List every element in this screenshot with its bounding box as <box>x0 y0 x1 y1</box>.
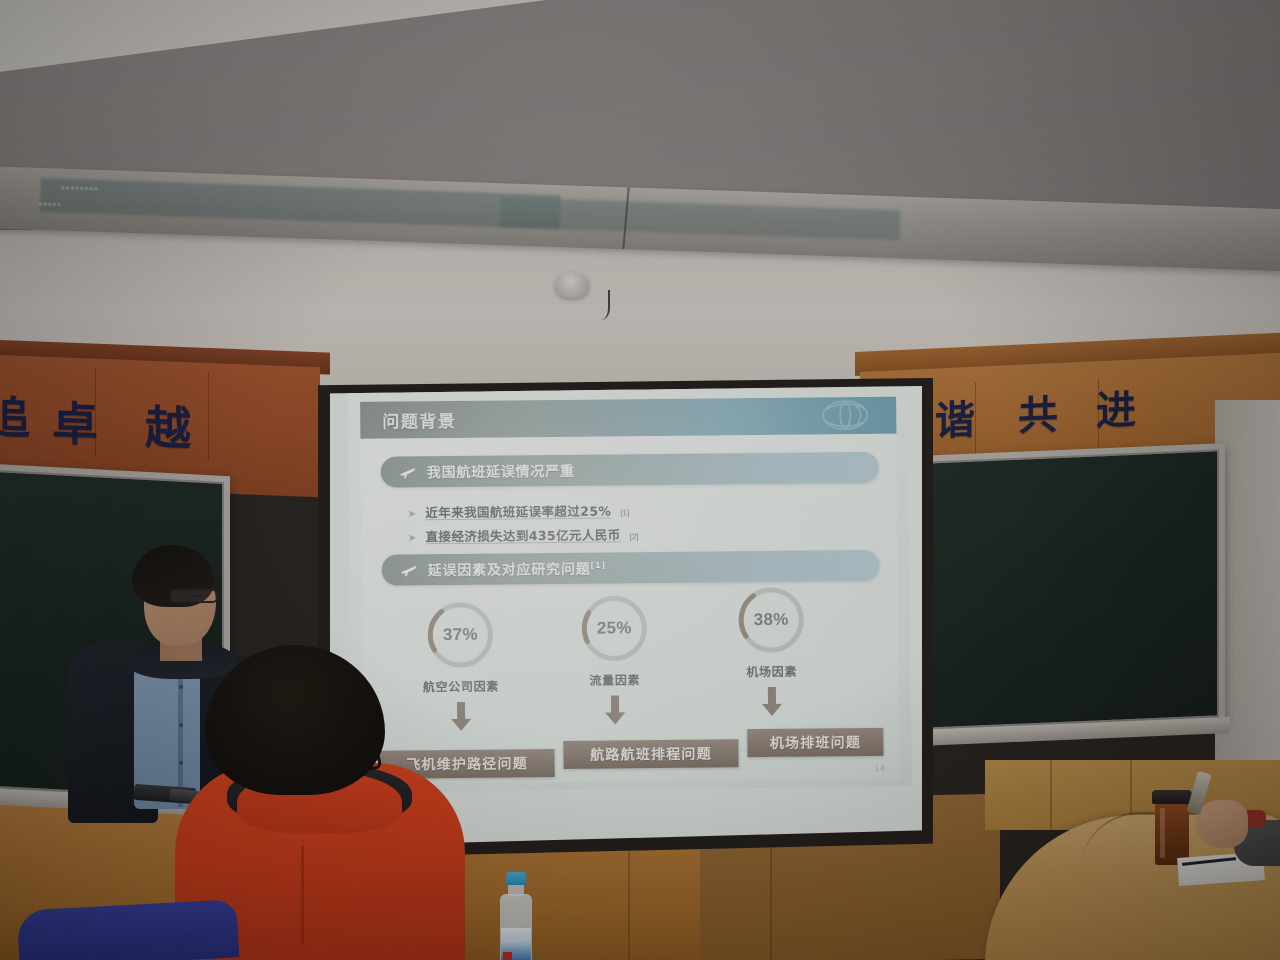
bullet-2-ref: [2] <box>630 532 639 541</box>
blue-chair <box>17 899 240 960</box>
water-bottle <box>498 872 534 960</box>
section-header-1: 我国航班延误情况严重 <box>381 452 879 488</box>
problem-box-2: 航路航班排程问题 <box>563 739 738 769</box>
bullet-arrow-icon: ➤ <box>407 509 416 520</box>
banner-char-left-2: 越 <box>145 391 191 459</box>
lecture-hall-photo: ●●●●●●●● ●●●●● 追 卓 越 和 谐 共 进 <box>0 0 1280 960</box>
audience-hair <box>205 645 385 795</box>
banner-char-left-1: 卓 <box>52 387 98 455</box>
banner-char-left-0: 追 <box>0 381 30 447</box>
blackboard-right <box>895 443 1225 737</box>
problem-box-3: 机场排班问题 <box>747 728 883 757</box>
down-arrow-icon <box>604 695 626 725</box>
bullet-2: ➤ 直接经济损失达到435亿元人民币 [2] <box>407 524 638 545</box>
section-2-heading-ref: [1] <box>590 560 605 569</box>
factor-caption-2: 流量因素 <box>589 671 640 688</box>
banner-char-right-1: 谐 <box>935 387 975 447</box>
problem-label-3: 机场排班问题 <box>770 732 861 753</box>
donut-chart-2: 25% <box>577 591 652 666</box>
bullet-1-ref: [1] <box>620 508 629 517</box>
hoodie-fold <box>301 845 304 945</box>
light-cord <box>588 290 610 320</box>
ceiling-dome-light <box>555 272 589 298</box>
problem-label-2: 航路航班排程问题 <box>590 744 712 765</box>
factor-group-3: 38% 机场因素 <box>734 583 809 718</box>
right-person-hand <box>1196 800 1248 848</box>
institution-watermark-logo <box>808 398 882 434</box>
audience-member-right <box>1186 772 1280 882</box>
bottle-label-mark <box>503 952 512 960</box>
section-2-heading-text: 延误因素及对应研究问题 <box>428 561 591 579</box>
airplane-icon <box>399 465 417 479</box>
bullet-arrow-icon: ➤ <box>407 533 416 544</box>
donut-percent-2: 25% <box>577 591 652 666</box>
bullet-1-text: 近年来我国航班延误率超过25% <box>425 500 611 521</box>
banner-char-right-2: 共 <box>1018 382 1058 442</box>
factor-group-2: 25% 流量因素 <box>577 591 652 726</box>
tea-jar-highlight <box>1160 808 1165 858</box>
section-1-heading: 我国航班延误情况严重 <box>427 460 575 481</box>
slide-title-bar: 问题背景 <box>360 397 896 439</box>
glasses-icon <box>170 589 218 603</box>
donut-percent-3: 38% <box>734 583 809 658</box>
beam-slide-reflection <box>40 178 561 229</box>
slide-title: 问题背景 <box>382 407 456 433</box>
factor-caption-3: 机场因素 <box>746 663 797 680</box>
bottle-neck <box>508 884 524 896</box>
down-arrow-icon <box>761 687 783 717</box>
airplane-icon <box>400 563 418 577</box>
slide-page-number: 18 <box>875 764 886 773</box>
bottle-cap <box>506 872 526 885</box>
section-2-heading: 延误因素及对应研究问题[1] <box>428 558 606 580</box>
section-header-2: 延误因素及对应研究问题[1] <box>382 550 880 586</box>
donut-chart-3: 38% <box>734 583 809 658</box>
banner-char-right-3: 进 <box>1096 377 1136 437</box>
bullet-1: ➤ 近年来我国航班延误率超过25% [1] <box>407 500 629 521</box>
bullet-2-text: 直接经济损失达到435亿元人民币 <box>426 524 621 545</box>
beam-slide-reflection-2 <box>500 197 901 240</box>
